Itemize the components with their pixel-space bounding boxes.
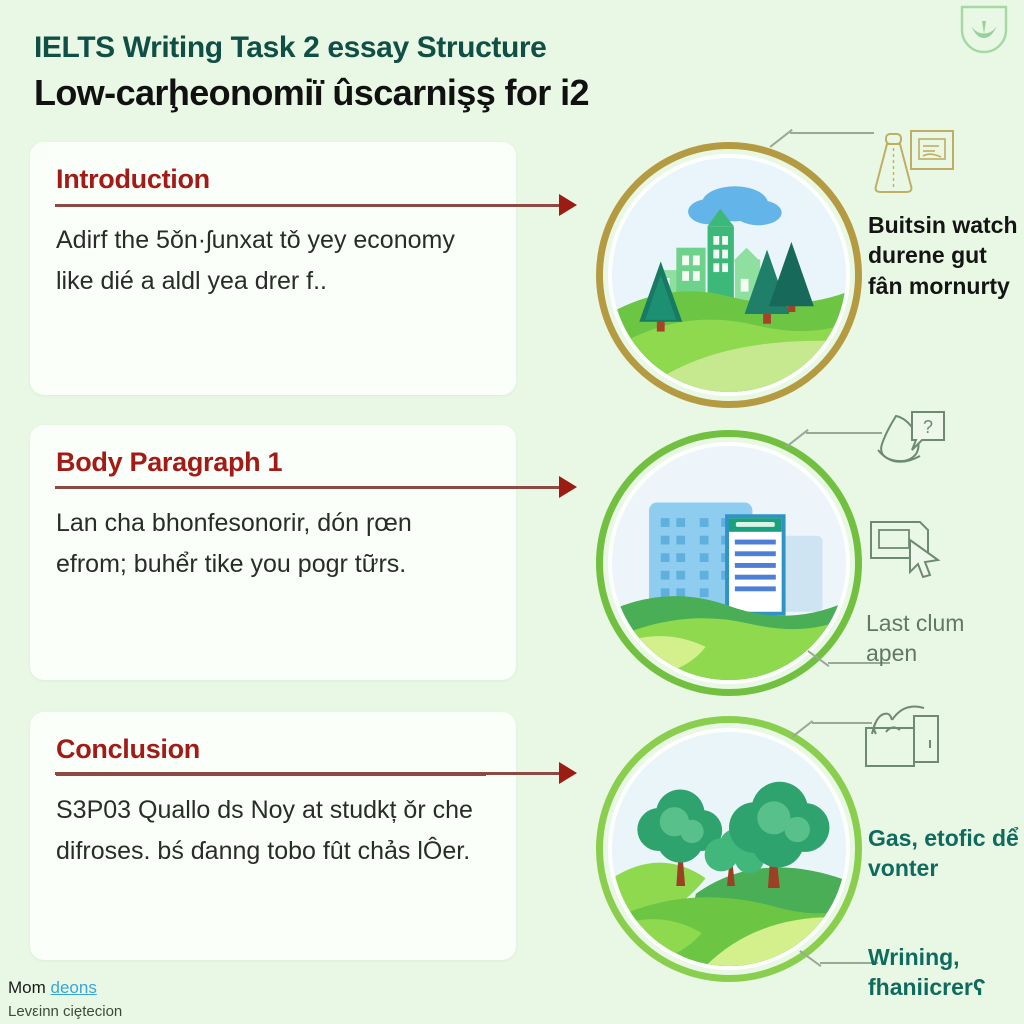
- section-card-body-paragraph-1[interactable]: Body Paragraph 1 Lan cha bhonfesonorir, …: [30, 425, 516, 680]
- arrow-right-icon-body-paragraph-1: [55, 486, 560, 489]
- section-card-introduction[interactable]: Introduction Adirf the 5ǒn·ʃunxat tǒ yey…: [30, 142, 516, 395]
- section-title: Introduction: [56, 164, 210, 195]
- arrow-right-icon-introduction: [55, 204, 560, 207]
- footer-subtext: Levεinn ciȩtecion: [8, 1003, 122, 1020]
- green-city-landscape-icon: [596, 142, 862, 408]
- office-building-document-icon: [596, 430, 862, 696]
- section-body: S3P03 Quallo ds Noy at studkț ǒr che dif…: [56, 790, 488, 871]
- shield-leaf-logo-icon: [956, 4, 1012, 56]
- three-trees-hills-icon: [596, 716, 862, 982]
- hand-tablet-icon: [862, 700, 946, 772]
- footer-lead-text: Mom: [8, 978, 46, 997]
- document-card-icon: [908, 128, 956, 172]
- footer-line: Mom deons: [8, 978, 97, 998]
- section-body: Adirf the 5ǒn·ʃunxat tǒ yey economy like…: [56, 220, 488, 301]
- annotation-text-1: Buitsin watch durene gut fân mornurty: [868, 210, 1018, 301]
- leader-line-2-elbow: [786, 429, 809, 447]
- arrow-right-icon-conclusion: [55, 772, 560, 775]
- svg-text:?: ?: [923, 417, 933, 437]
- leader-line-1: [790, 132, 874, 134]
- poster-canvas: IELTS Writing Task 2 essay Structure Low…: [0, 0, 1024, 1024]
- leader-line-1-elbow: [770, 129, 793, 147]
- leader-line-4-elbow: [792, 720, 813, 737]
- section-title: Conclusion: [56, 734, 200, 765]
- chat-question-icon: ?: [872, 410, 948, 472]
- page-subtitle: IELTS Writing Task 2 essay Structure: [34, 31, 546, 65]
- footer-link[interactable]: deons: [51, 978, 97, 997]
- section-title: Body Paragraph 1: [56, 447, 282, 478]
- annotation-text-2: Last clum apen: [866, 608, 1016, 669]
- screen-cursor-icon: [868, 518, 946, 578]
- annotation-text-3: Gas, etofic dể vonter: [868, 823, 1020, 884]
- section-card-conclusion[interactable]: Conclusion S3P03 Quallo ds Noy at studkț…: [30, 712, 516, 960]
- leader-line-2: [806, 432, 882, 434]
- section-body: Lan cha bhonfesonorir, dón ɼœn efrom; bu…: [56, 503, 488, 584]
- annotation-text-4: Wrining, fhaniicrerʕ: [868, 942, 1020, 1003]
- page-title: Low-carḩeonomiï ûscarnişş for i2: [34, 72, 589, 114]
